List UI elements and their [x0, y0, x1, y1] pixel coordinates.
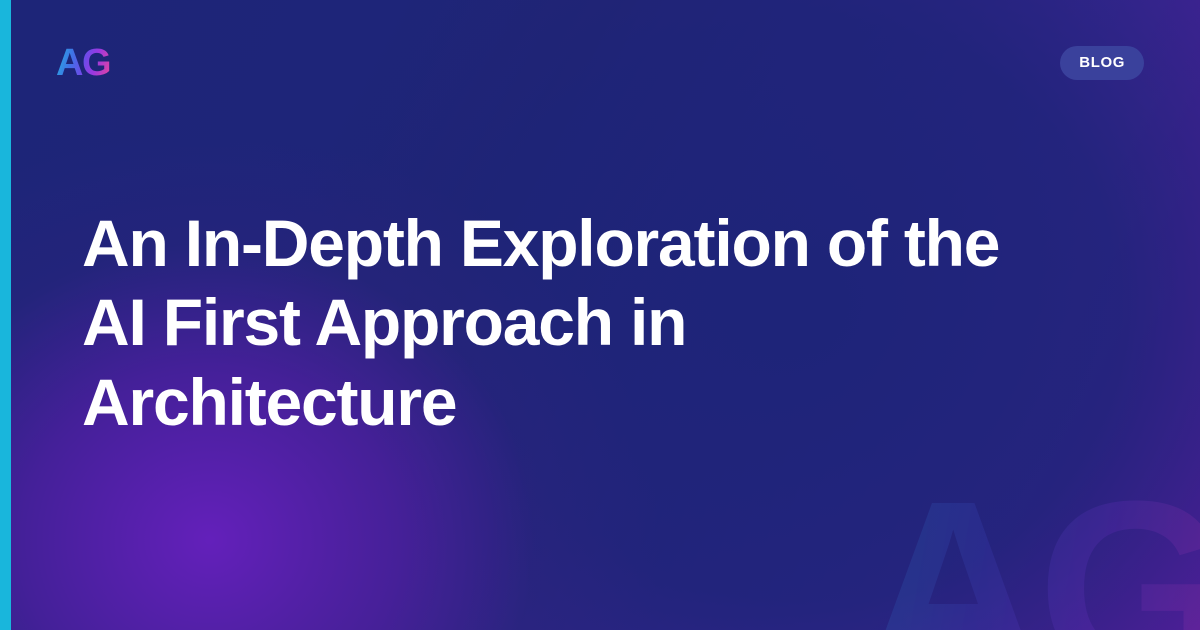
left-accent-bar — [0, 0, 11, 630]
blog-social-card: AG AG BLOG An In-Depth Exploration of th… — [0, 0, 1200, 630]
card-content: AG BLOG An In-Depth Exploration of the A… — [0, 0, 1200, 630]
headline-container: An In-Depth Exploration of the AI First … — [52, 68, 1148, 578]
page-title: An In-Depth Exploration of the AI First … — [52, 204, 1012, 442]
